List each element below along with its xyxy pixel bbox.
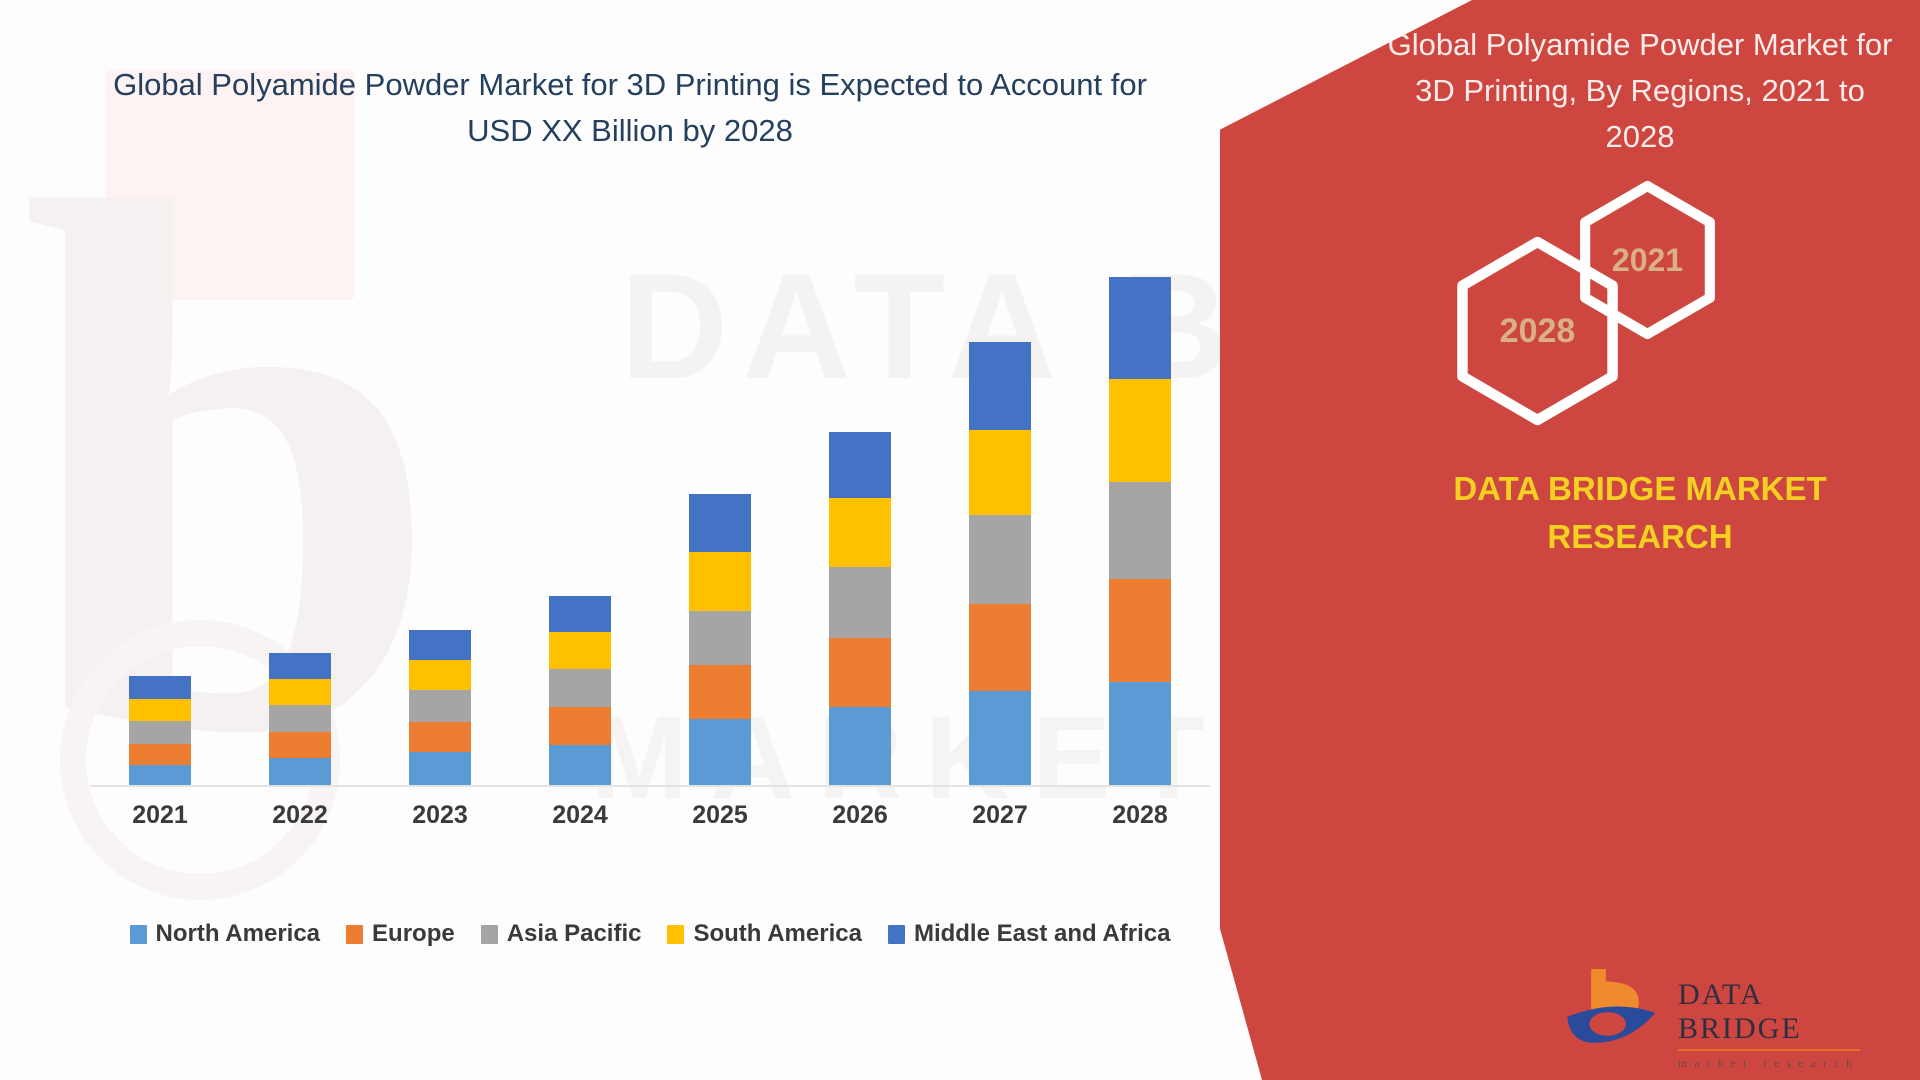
legend-item-europe[interactable]: Europe bbox=[346, 920, 455, 948]
stacked-bar-group bbox=[90, 255, 1210, 785]
x-axis-label-2026: 2026 bbox=[795, 801, 925, 830]
legend-label: South America bbox=[693, 920, 861, 948]
bar-segment-middle-east-and-africa bbox=[969, 342, 1031, 430]
chart-legend: North AmericaEuropeAsia PacificSouth Ame… bbox=[70, 920, 1230, 948]
bar-segment-europe bbox=[129, 744, 191, 765]
x-axis-line bbox=[90, 785, 1210, 787]
legend-label: Middle East and Africa bbox=[914, 920, 1171, 948]
legend-item-asia-pacific[interactable]: Asia Pacific bbox=[481, 920, 642, 948]
bar-segment-middle-east-and-africa bbox=[269, 653, 331, 679]
legend-item-middle-east-and-africa[interactable]: Middle East and Africa bbox=[888, 920, 1171, 948]
legend-swatch-icon bbox=[667, 925, 684, 944]
bar-segment-europe bbox=[969, 604, 1031, 691]
bar-segment-asia-pacific bbox=[269, 705, 331, 732]
branding-panel: Global Polyamide Powder Market for 3D Pr… bbox=[1220, 0, 1920, 1080]
bar-segment-north-america bbox=[969, 691, 1031, 785]
db-logo-name: DATA BRIDGE bbox=[1678, 978, 1860, 1051]
bar-segment-south-america bbox=[549, 632, 611, 669]
x-axis-label-2021: 2021 bbox=[95, 801, 225, 830]
bar-column-2022 bbox=[235, 653, 365, 785]
bar-segment-asia-pacific bbox=[129, 721, 191, 744]
bar-segment-middle-east-and-africa bbox=[409, 630, 471, 660]
bar-segment-middle-east-and-africa bbox=[1109, 277, 1171, 379]
stacked-bar bbox=[689, 494, 751, 785]
bar-segment-north-america bbox=[409, 752, 471, 785]
bar-segment-middle-east-and-africa bbox=[829, 432, 891, 498]
db-logo-wordmark: DATA BRIDGE market research bbox=[1678, 978, 1860, 1071]
db-logo-mark-icon bbox=[1560, 960, 1670, 1055]
chart-title: Global Polyamide Powder Market for 3D Pr… bbox=[90, 62, 1170, 154]
bar-segment-south-america bbox=[969, 430, 1031, 515]
x-axis-label-2025: 2025 bbox=[655, 801, 785, 830]
legend-swatch-icon bbox=[346, 925, 363, 944]
bar-segment-middle-east-and-africa bbox=[689, 494, 751, 552]
bar-segment-asia-pacific bbox=[409, 690, 471, 722]
hexagon-badge-end-year: 2028 bbox=[1450, 235, 1625, 427]
chart-plot-area: 20212022202320242025202620272028 bbox=[70, 250, 1230, 850]
legend-label: Europe bbox=[372, 920, 455, 948]
bar-segment-asia-pacific bbox=[689, 611, 751, 666]
stacked-bar bbox=[969, 342, 1031, 785]
bar-segment-south-america bbox=[1109, 379, 1171, 481]
legend-swatch-icon bbox=[481, 925, 498, 944]
bar-segment-asia-pacific bbox=[1109, 482, 1171, 580]
bar-segment-north-america bbox=[129, 765, 191, 785]
stacked-bar bbox=[129, 676, 191, 785]
stacked-bar bbox=[1109, 277, 1171, 785]
x-axis-label-2028: 2028 bbox=[1075, 801, 1205, 830]
bar-segment-europe bbox=[549, 707, 611, 744]
bar-segment-asia-pacific bbox=[549, 669, 611, 707]
x-axis-label-2022: 2022 bbox=[235, 801, 365, 830]
bar-column-2028 bbox=[1075, 277, 1205, 785]
bar-segment-europe bbox=[1109, 579, 1171, 681]
legend-item-south-america[interactable]: South America bbox=[667, 920, 861, 948]
x-axis-label-2024: 2024 bbox=[515, 801, 645, 830]
bar-column-2021 bbox=[95, 676, 225, 785]
legend-label: Asia Pacific bbox=[507, 920, 642, 948]
legend-swatch-icon bbox=[130, 925, 147, 944]
bar-column-2024 bbox=[515, 596, 645, 785]
bar-column-2023 bbox=[375, 630, 505, 785]
bar-segment-north-america bbox=[689, 719, 751, 785]
bar-segment-asia-pacific bbox=[969, 515, 1031, 605]
bar-segment-asia-pacific bbox=[829, 567, 891, 638]
legend-item-north-america[interactable]: North America bbox=[130, 920, 320, 948]
x-axis-label-2027: 2027 bbox=[935, 801, 1065, 830]
hexagon-badges: 2021 2028 bbox=[1440, 180, 1860, 430]
x-axis-label-2023: 2023 bbox=[375, 801, 505, 830]
stacked-bar bbox=[269, 653, 331, 785]
bar-segment-south-america bbox=[829, 498, 891, 567]
bar-column-2025 bbox=[655, 494, 785, 785]
bar-segment-europe bbox=[269, 732, 331, 758]
bar-segment-middle-east-and-africa bbox=[129, 676, 191, 699]
bar-segment-middle-east-and-africa bbox=[549, 596, 611, 633]
bar-segment-europe bbox=[409, 722, 471, 752]
data-bridge-logo: DATA BRIDGE market research bbox=[1560, 960, 1860, 1060]
bar-segment-north-america bbox=[549, 745, 611, 785]
bar-segment-europe bbox=[689, 665, 751, 719]
legend-swatch-icon bbox=[888, 925, 905, 944]
stacked-bar bbox=[549, 596, 611, 785]
bar-segment-south-america bbox=[409, 660, 471, 690]
db-logo-tagline: market research bbox=[1678, 1056, 1860, 1071]
brand-name-text: DATA BRIDGE MARKET RESEARCH bbox=[1380, 465, 1900, 561]
hexagon-end-year-label: 2028 bbox=[1450, 235, 1625, 427]
bar-column-2027 bbox=[935, 342, 1065, 785]
bar-segment-north-america bbox=[1109, 682, 1171, 785]
branding-panel-title: Global Polyamide Powder Market for 3D Pr… bbox=[1380, 22, 1900, 160]
bar-segment-north-america bbox=[829, 707, 891, 785]
bar-segment-europe bbox=[829, 638, 891, 707]
legend-label: North America bbox=[156, 920, 320, 948]
bar-column-2026 bbox=[795, 432, 925, 785]
stacked-bar bbox=[409, 630, 471, 785]
bar-segment-south-america bbox=[689, 552, 751, 610]
bar-segment-south-america bbox=[129, 699, 191, 721]
chart-panel: Global Polyamide Powder Market for 3D Pr… bbox=[0, 0, 1290, 1080]
stacked-bar bbox=[829, 432, 891, 785]
infographic-page: b DATA BRIDGE MARKET RESEARCH Global Pol… bbox=[0, 0, 1920, 1080]
bar-segment-north-america bbox=[269, 758, 331, 785]
bar-segment-south-america bbox=[269, 679, 331, 705]
x-axis-labels: 20212022202320242025202620272028 bbox=[90, 801, 1210, 830]
